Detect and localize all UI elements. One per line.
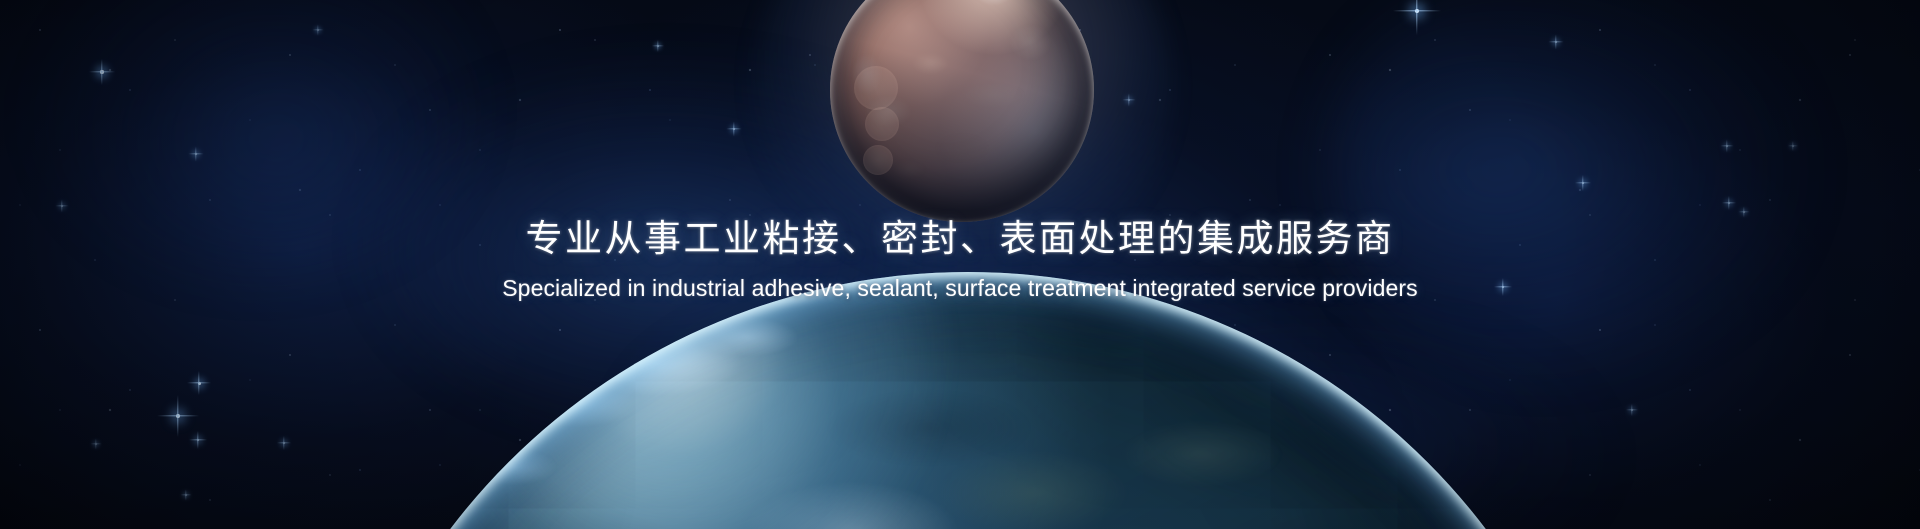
headline-english: Specialized in industrial adhesive, seal… (0, 274, 1920, 302)
earth-planet (318, 272, 1618, 529)
headline-chinese: 专业从事工业粘接、密封、表面处理的集成服务商 (0, 216, 1920, 264)
hero-text-block: 专业从事工业粘接、密封、表面处理的集成服务商 Specialized in in… (0, 216, 1920, 302)
upper-planet (830, 0, 1094, 222)
hero-banner: 专业从事工业粘接、密封、表面处理的集成服务商 Specialized in in… (0, 0, 1920, 529)
